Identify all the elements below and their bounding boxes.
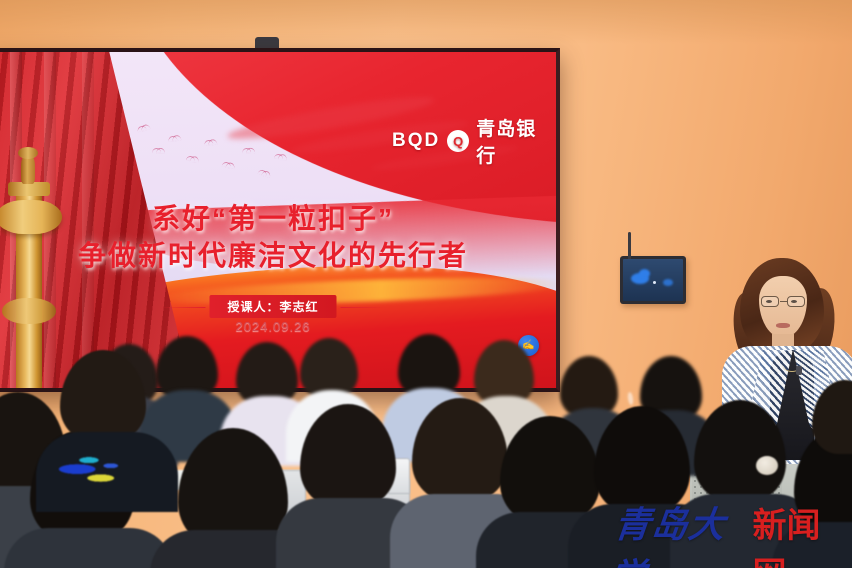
lecture-photo-scene: BQD Q 青岛银行 系好“第一粒扣子” 争做新时代廉洁文化的先行者 授课人：李…: [0, 0, 852, 568]
bird-icon: [152, 148, 161, 153]
watermark-site-name: 新闻网: [753, 498, 848, 568]
watermark: 青岛大学 新闻网 http://news.qdu.edu.cn: [612, 496, 848, 568]
wall-monitor: [620, 256, 686, 304]
hair-scrunchie: [756, 456, 778, 475]
antenna-icon: [628, 232, 631, 260]
classroom-display: BQD Q 青岛银行 系好“第一粒扣子” 争做新时代廉洁文化的先行者 授课人：李…: [0, 48, 560, 392]
audience-body-front: [4, 528, 174, 568]
shirt-graphic: [52, 440, 136, 496]
bank-brand-logo: BQD Q 青岛银行: [392, 114, 556, 168]
wall-monitor-screen: [623, 259, 683, 301]
lapel-microphone-icon: [796, 366, 802, 375]
presentation-slide: BQD Q 青岛银行 系好“第一粒扣子” 争做新时代廉洁文化的先行者 授课人：李…: [0, 52, 556, 388]
bird-icon: [168, 135, 178, 142]
slide-title-line-2: 争做新时代廉洁文化的先行者: [0, 239, 556, 273]
glasses-icon: [760, 296, 806, 307]
wall-top-shading: [0, 0, 852, 44]
bird-icon: [222, 161, 232, 167]
slide-title-block: 系好“第一粒扣子” 争做新时代廉洁文化的先行者: [0, 202, 556, 273]
slide-presenter-badge: 授课人：李志红: [209, 295, 336, 318]
slide-date-text: 2024.09.26: [235, 319, 310, 334]
bird-icon: [186, 156, 195, 162]
bird-icon: [274, 154, 283, 159]
brand-latin-text: BQD: [392, 130, 440, 152]
watermark-org-name: 青岛大学: [607, 496, 756, 568]
slide-title-line-1: 系好“第一粒扣子”: [0, 202, 556, 236]
brand-chinese-text: 青岛银行: [476, 114, 556, 168]
bird-icon: [204, 139, 214, 145]
brand-mark-icon: Q: [447, 130, 469, 152]
bird-icon: [242, 148, 251, 154]
